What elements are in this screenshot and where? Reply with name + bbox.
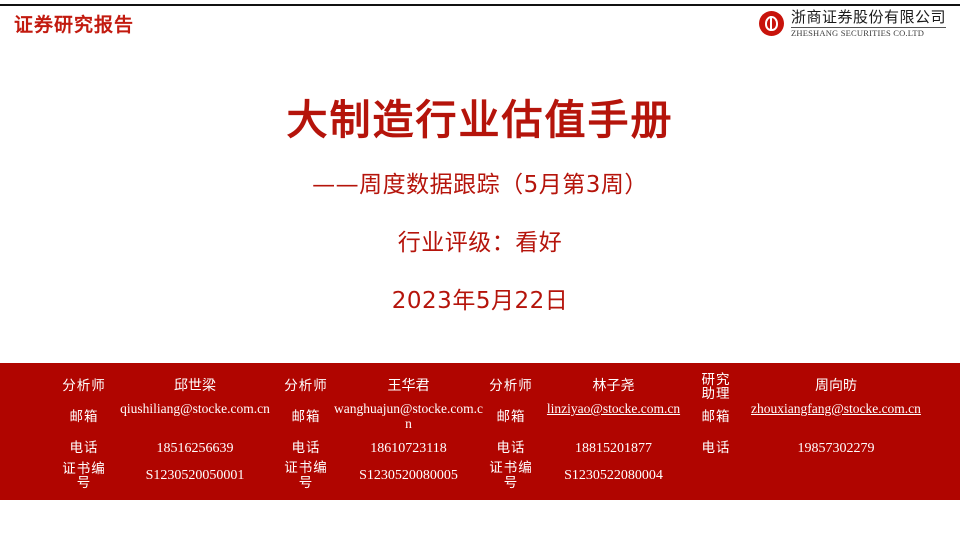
analyst-cert-2: S1230520080005: [334, 462, 483, 489]
label-cert-1-line2: 号: [77, 476, 92, 490]
analyst-phone-1: 18516256639: [112, 435, 278, 462]
analyst-email-4[interactable]: zhouxiangfang@stocke.com.cn: [744, 400, 928, 435]
analyst-name-1: 邱世梁: [112, 373, 278, 400]
analyst-column-2: 分析师 邮箱 电话 证书编号 王华君 wanghuajun@stocke.com…: [278, 373, 483, 489]
analyst-column-3: 分析师 邮箱 电话 证书编号 林子尧 linziyao@stocke.com.c…: [483, 373, 688, 489]
company-logo-text: 浙商证券股份有限公司 ZHESHANG SECURITIES CO.LTD: [791, 10, 946, 38]
report-date: 2023年5月22日: [0, 281, 960, 315]
label-role-2: 分析师: [278, 373, 334, 400]
company-name-cn: 浙商证券股份有限公司: [791, 10, 946, 28]
slide-cover: 证券研究报告 浙商证券股份有限公司 ZHESHANG SECURITIES CO…: [0, 0, 960, 540]
label-cert-1: 证书编 号: [56, 462, 112, 489]
analyst-email-2[interactable]: wanghuajun@stocke.com.cn: [334, 400, 483, 435]
analyst-name-2: 王华君: [334, 373, 483, 400]
analyst-labels-4: 研究 助理 邮箱 电话: [688, 373, 744, 462]
page-title: 大制造行业估值手册: [0, 96, 960, 145]
label-role-1: 分析师: [56, 373, 112, 400]
analyst-phone-2: 18610723118: [334, 435, 483, 462]
cover-center-block: 大制造行业估值手册 ——周度数据跟踪（5月第3周） 行业评级：看好 2023年5…: [0, 96, 960, 315]
zheshang-logo-mark-icon: [759, 11, 784, 36]
label-cert-1-line1: 证书编: [62, 462, 106, 476]
label-cert-3: 证书编号: [483, 462, 539, 489]
top-divider-rule: [0, 4, 960, 6]
analyst-values-2: 王华君 wanghuajun@stocke.com.cn 18610723118…: [334, 373, 483, 489]
analyst-email-3[interactable]: linziyao@stocke.com.cn: [539, 400, 688, 435]
label-email-4: 邮箱: [688, 400, 744, 435]
analyst-column-4: 研究 助理 邮箱 电话 周向昉 zhouxiangfang@stocke.com…: [688, 373, 928, 462]
label-phone-1: 电话: [56, 435, 112, 462]
label-email-1: 邮箱: [56, 400, 112, 435]
label-cert-2: 证书编号: [278, 462, 334, 489]
analyst-values-3: 林子尧 linziyao@stocke.com.cn 18815201877 S…: [539, 373, 688, 489]
analyst-footer-band: 分析师 邮箱 电话 证书编 号 邱世梁 qiushiliang@stocke.c…: [0, 363, 960, 500]
analyst-columns: 分析师 邮箱 电话 证书编 号 邱世梁 qiushiliang@stocke.c…: [56, 373, 946, 489]
label-email-2: 邮箱: [278, 400, 334, 435]
analyst-column-1: 分析师 邮箱 电话 证书编 号 邱世梁 qiushiliang@stocke.c…: [56, 373, 278, 489]
page-subtitle: ——周度数据跟踪（5月第3周）: [0, 165, 960, 199]
analyst-labels-1: 分析师 邮箱 电话 证书编 号: [56, 373, 112, 489]
analyst-cert-1: S1230520050001: [112, 462, 278, 489]
label-phone-2: 电话: [278, 435, 334, 462]
analyst-cert-3: S1230522080004: [539, 462, 688, 489]
label-role-4-line2: 助理: [702, 387, 731, 401]
label-role-4: 研究 助理: [688, 373, 744, 400]
label-phone-4: 电话: [688, 435, 744, 462]
label-role-3: 分析师: [483, 373, 539, 400]
analyst-labels-2: 分析师 邮箱 电话 证书编号: [278, 373, 334, 489]
industry-rating: 行业评级：看好: [0, 223, 960, 257]
analyst-labels-3: 分析师 邮箱 电话 证书编号: [483, 373, 539, 489]
analyst-name-4: 周向昉: [744, 373, 928, 400]
label-email-3: 邮箱: [483, 400, 539, 435]
analyst-values-4: 周向昉 zhouxiangfang@stocke.com.cn 19857302…: [744, 373, 928, 462]
company-logo: 浙商证券股份有限公司 ZHESHANG SECURITIES CO.LTD: [759, 10, 946, 38]
analyst-phone-4: 19857302279: [744, 435, 928, 462]
analyst-email-1[interactable]: qiushiliang@stocke.com.cn: [112, 400, 278, 435]
analyst-phone-3: 18815201877: [539, 435, 688, 462]
report-type-tag: 证券研究报告: [14, 10, 134, 37]
analyst-values-1: 邱世梁 qiushiliang@stocke.com.cn 1851625663…: [112, 373, 278, 489]
label-phone-3: 电话: [483, 435, 539, 462]
analyst-name-3: 林子尧: [539, 373, 688, 400]
label-role-4-line1: 研究: [702, 373, 731, 387]
company-name-en: ZHESHANG SECURITIES CO.LTD: [791, 29, 946, 38]
